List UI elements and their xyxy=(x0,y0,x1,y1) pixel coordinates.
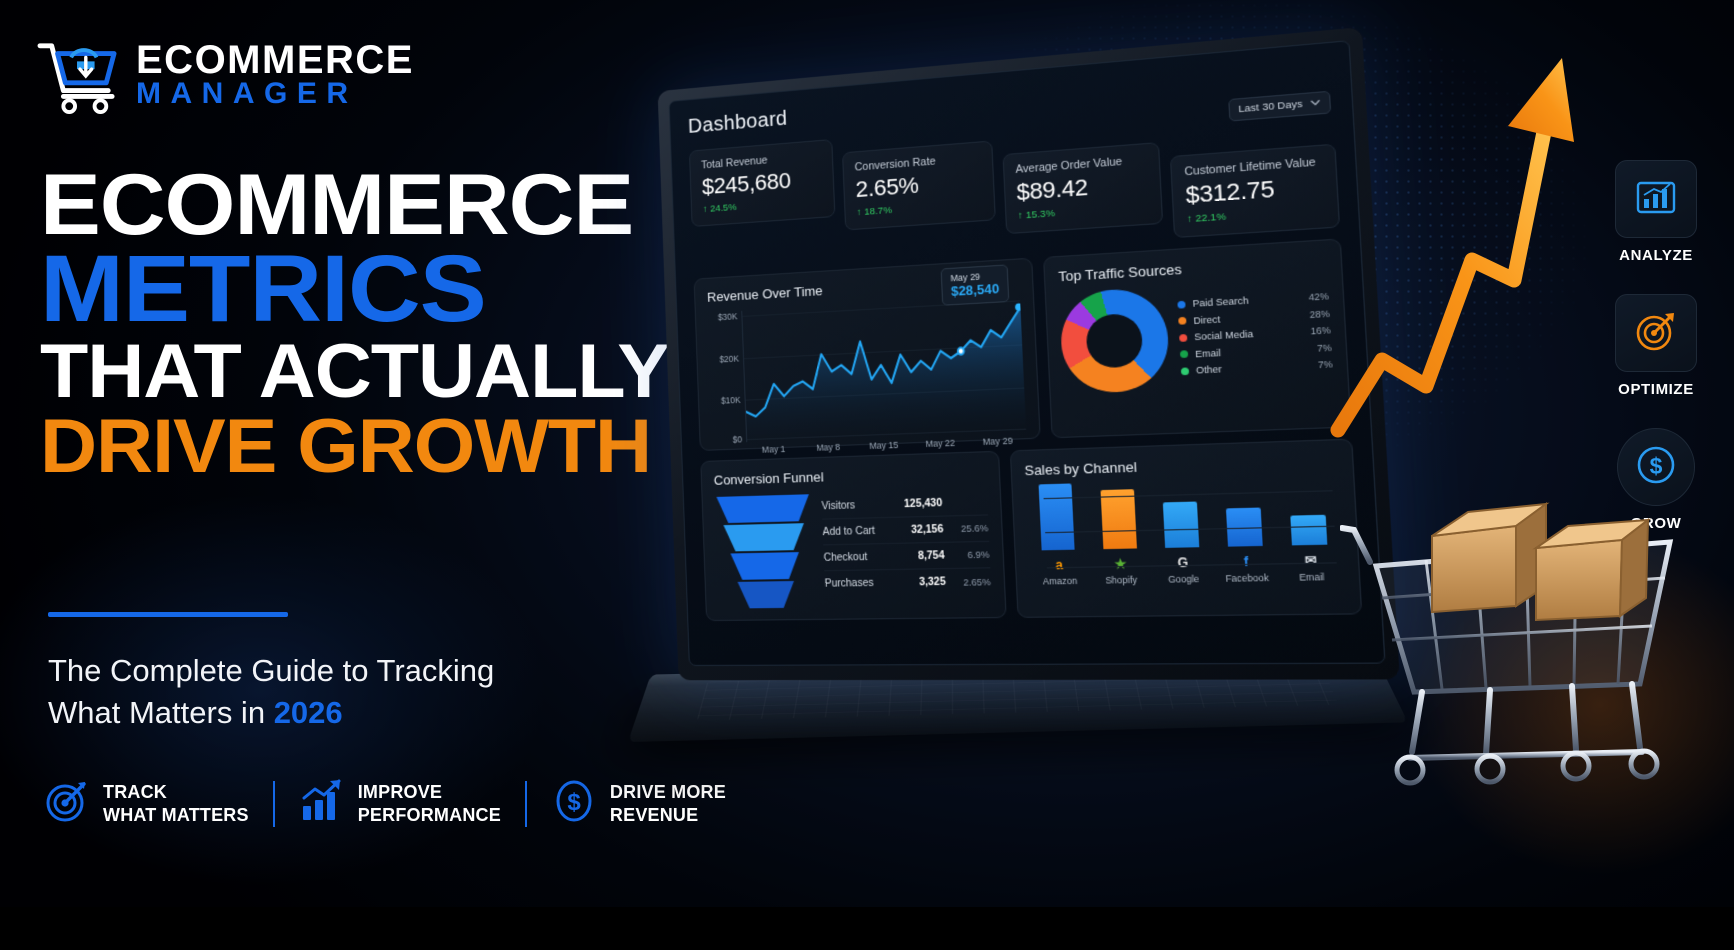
conversion-funnel-panel: Conversion Funnel Visitors xyxy=(700,451,1006,621)
charts-row-top: Revenue Over Time May 29 $28,540 $30K $2… xyxy=(694,238,1352,451)
brand-name-line1: ECOMMERCE xyxy=(136,42,414,79)
sales-bar-facebook: f Facebook xyxy=(1216,507,1274,584)
y-tick: $30K xyxy=(718,311,738,322)
kpi-delta-value: 22.1% xyxy=(1195,211,1226,225)
chart-tooltip: May 29 $28,540 xyxy=(941,264,1010,305)
traffic-chart: Paid Search 42% Direct 28% xyxy=(1059,278,1334,395)
subtitle: The Complete Guide to Tracking What Matt… xyxy=(48,650,648,733)
shopping-cart-icon xyxy=(34,36,122,114)
headline-line-2: METRICS xyxy=(40,248,718,332)
feature-track-line1: TRACK xyxy=(103,782,167,802)
feature-item-improve: IMPROVE PERFORMANCE xyxy=(299,778,501,829)
legend-item: Direct 28% xyxy=(1178,308,1330,327)
funnel-chart: Visitors 125,430 Add to Cart 32,156 25.6… xyxy=(714,489,991,609)
chevron-down-icon xyxy=(1310,97,1320,110)
top-traffic-sources-panel: Top Traffic Sources Paid Search 42% xyxy=(1043,238,1351,438)
legend-value: 16% xyxy=(1310,325,1331,337)
x-tick: May 8 xyxy=(801,441,857,453)
google-icon: G xyxy=(1177,553,1189,572)
badge-icon-frame xyxy=(1615,294,1697,372)
legend-swatch xyxy=(1181,367,1189,375)
subtitle-line-2-text: What Matters in xyxy=(48,695,274,730)
feature-revenue-line2: REVENUE xyxy=(610,805,698,825)
kpi-value: 2.65% xyxy=(855,167,982,203)
feature-label-track: TRACK WHAT MATTERS xyxy=(103,781,249,826)
amazon-icon: a xyxy=(1055,555,1063,573)
target-icon xyxy=(1634,309,1678,358)
shopify-icon: ★ xyxy=(1114,554,1127,573)
legend-item: Email 7% xyxy=(1180,342,1332,360)
feature-track-line2: WHAT MATTERS xyxy=(103,805,249,825)
funnel-stage-label: Purchases xyxy=(825,577,885,589)
growth-arrow-icon xyxy=(1330,30,1590,450)
funnel-stage-value: 32,156 xyxy=(882,523,944,536)
revenue-y-axis: $30K $20K $10K $0 xyxy=(708,311,747,443)
bar xyxy=(1291,515,1328,546)
feature-list: TRACK WHAT MATTERS IMPROVE PERFORMANCE xyxy=(44,778,726,829)
sales-channel-label: Email xyxy=(1299,571,1325,582)
y-tick: $0 xyxy=(733,435,743,445)
chart-bars-icon xyxy=(1634,177,1678,222)
charts-row-bottom: Conversion Funnel Visitors xyxy=(700,439,1362,621)
badge-analyze[interactable]: ANALYZE xyxy=(1600,160,1712,264)
y-tick: $20K xyxy=(719,353,739,364)
feature-item-track: TRACK WHAT MATTERS xyxy=(44,778,249,829)
badge-optimize[interactable]: OPTIMIZE xyxy=(1600,294,1712,398)
funnel-stage-label: Visitors xyxy=(821,499,881,512)
headline-line-3: THAT ACTUALLY xyxy=(40,339,706,406)
bar-chart-up-icon xyxy=(299,778,345,829)
sales-channel-label: Amazon xyxy=(1043,575,1078,586)
funnel-stage-rate xyxy=(942,502,987,503)
laptop-screen-bezel: Dashboard Last 30 Days Total Revenue $24… xyxy=(658,27,1400,680)
bar xyxy=(1163,502,1200,548)
sales-channel-label: Facebook xyxy=(1225,572,1269,584)
funnel-stage-rate: 6.9% xyxy=(944,549,989,560)
legend-label: Direct xyxy=(1193,309,1303,326)
feature-improve-line1: IMPROVE xyxy=(358,782,442,802)
dashboard-screen: Dashboard Last 30 Days Total Revenue $24… xyxy=(669,40,1386,666)
kpi-card-customer-lifetime-value[interactable]: Customer Lifetime Value $312.75 ↑ 22.1% xyxy=(1170,144,1340,238)
funnel-row: Add to Cart 32,156 25.6% xyxy=(822,515,989,545)
subtitle-line-2: What Matters in 2026 xyxy=(48,692,648,734)
brand-name-line2: MANAGER xyxy=(136,80,414,108)
kpi-value: $312.75 xyxy=(1185,172,1326,210)
date-range-label: Last 30 Days xyxy=(1238,98,1303,115)
funnel-stage-value: 8,754 xyxy=(883,550,945,563)
legend-swatch xyxy=(1178,300,1186,308)
feature-divider-2 xyxy=(525,781,527,827)
tooltip-value: $28,540 xyxy=(951,282,1000,299)
laptop-mockup: Dashboard Last 30 Days Total Revenue $24… xyxy=(660,88,1400,788)
legend-label: Paid Search xyxy=(1192,292,1302,309)
legend-label: Social Media xyxy=(1194,326,1304,342)
funnel-row: Purchases 3,325 2.65% xyxy=(824,568,991,597)
badge-label: OPTIMIZE xyxy=(1618,381,1694,398)
revenue-over-time-panel: Revenue Over Time May 29 $28,540 $30K $2… xyxy=(694,258,1041,451)
kpi-value: $89.42 xyxy=(1016,169,1150,206)
funnel-stage-add-to-cart xyxy=(723,523,805,551)
bar xyxy=(1100,489,1136,549)
funnel-stage-rate: 2.65% xyxy=(945,576,990,587)
x-tick: May 15 xyxy=(856,439,912,451)
svg-text:$: $ xyxy=(567,789,581,816)
sales-bar-email: ✉ Email xyxy=(1281,515,1340,584)
dashboard: Dashboard Last 30 Days Total Revenue $24… xyxy=(670,41,1385,665)
revenue-plot-area xyxy=(741,295,1026,442)
legend-label: Other xyxy=(1196,360,1312,376)
legend-swatch xyxy=(1178,317,1186,325)
headline-line-4: DRIVE GROWTH xyxy=(40,414,706,481)
funnel-stage-label: Add to Cart xyxy=(822,525,882,538)
legend-value: 42% xyxy=(1308,291,1329,303)
x-tick: May 29 xyxy=(969,435,1027,448)
badge-icon-frame xyxy=(1615,160,1697,238)
x-tick: May 22 xyxy=(912,437,969,449)
traffic-legend: Paid Search 42% Direct 28% xyxy=(1177,291,1332,377)
brand-logo: ECOMMERCE MANAGER xyxy=(34,36,414,114)
funnel-stage-purchases xyxy=(738,581,796,608)
kpi-card-average-order-value[interactable]: Average Order Value $89.42 ↑ 15.3% xyxy=(1002,142,1164,234)
left-content-column: ECOMMERCE MANAGER ECOMMERCE METRICS THAT… xyxy=(0,0,700,907)
funnel-graphic xyxy=(714,494,815,609)
revenue-line-series xyxy=(742,295,1026,442)
kpi-delta-value: 24.5% xyxy=(710,202,737,215)
feature-label-improve: IMPROVE PERFORMANCE xyxy=(358,781,501,826)
traffic-donut-chart xyxy=(1059,287,1171,394)
funnel-stage-checkout xyxy=(730,552,800,580)
sales-bar-google: G Google xyxy=(1153,501,1211,585)
facebook-icon: f xyxy=(1243,552,1249,571)
kpi-value: $245,680 xyxy=(702,165,823,200)
subtitle-line-1: The Complete Guide to Tracking xyxy=(48,650,648,692)
legend-item: Social Media 16% xyxy=(1179,325,1331,343)
sales-bar-shopify: ★ Shopify xyxy=(1091,489,1148,586)
legend-item: Other 7% xyxy=(1181,359,1333,377)
kpi-delta-value: 18.7% xyxy=(864,205,892,218)
kpi-card-total-revenue[interactable]: Total Revenue $245,680 ↑ 24.5% xyxy=(689,139,835,227)
email-icon: ✉ xyxy=(1304,550,1317,569)
badge-label: ANALYZE xyxy=(1619,247,1693,264)
legend-label: Email xyxy=(1195,343,1311,359)
page-title: ECOMMERCE METRICS THAT ACTUALLY DRIVE GR… xyxy=(40,168,680,481)
kpi-card-conversion-rate[interactable]: Conversion Rate 2.65% ↑ 18.7% xyxy=(842,140,996,230)
funnel-stage-value: 125,430 xyxy=(881,497,942,510)
funnel-panel-title: Conversion Funnel xyxy=(714,464,986,488)
y-tick: $10K xyxy=(721,395,741,406)
funnel-rows: Visitors 125,430 Add to Cart 32,156 25.6… xyxy=(821,489,992,607)
funnel-row: Visitors 125,430 xyxy=(821,489,988,520)
feature-divider-1 xyxy=(273,781,275,827)
funnel-stage-value: 3,325 xyxy=(884,576,946,588)
funnel-stage-rate: 25.6% xyxy=(943,523,988,535)
feature-improve-line2: PERFORMANCE xyxy=(358,805,501,825)
sales-by-channel-panel: Sales by Channel a Amazon xyxy=(1009,439,1362,618)
shopping-cart-3d-illustration xyxy=(1340,470,1730,800)
sales-channel-label: Shopify xyxy=(1105,574,1137,585)
bar xyxy=(1039,483,1075,550)
revenue-chart: $30K $20K $10K $0 xyxy=(708,295,1027,443)
subtitle-year: 2026 xyxy=(274,695,343,730)
dollar-circle-icon: $ xyxy=(551,778,597,829)
kpi-delta-value: 15.3% xyxy=(1025,208,1055,221)
target-icon xyxy=(44,778,90,829)
funnel-stage-visitors xyxy=(716,494,810,523)
divider-rule xyxy=(48,612,288,617)
sales-channel-label: Google xyxy=(1168,573,1200,584)
legend-item: Paid Search 42% xyxy=(1177,291,1329,310)
legend-swatch xyxy=(1180,350,1188,358)
x-tick: May 1 xyxy=(746,443,801,455)
legend-swatch xyxy=(1179,333,1187,341)
funnel-row: Checkout 8,754 6.9% xyxy=(823,542,990,571)
funnel-stage-label: Checkout xyxy=(823,551,883,564)
sales-panel-title: Sales by Channel xyxy=(1024,452,1338,478)
legend-value: 28% xyxy=(1309,308,1330,320)
headline-line-1: ECOMMERCE xyxy=(40,168,718,244)
sales-bar-chart: a Amazon ★ Shopify G Googl xyxy=(1025,480,1345,587)
